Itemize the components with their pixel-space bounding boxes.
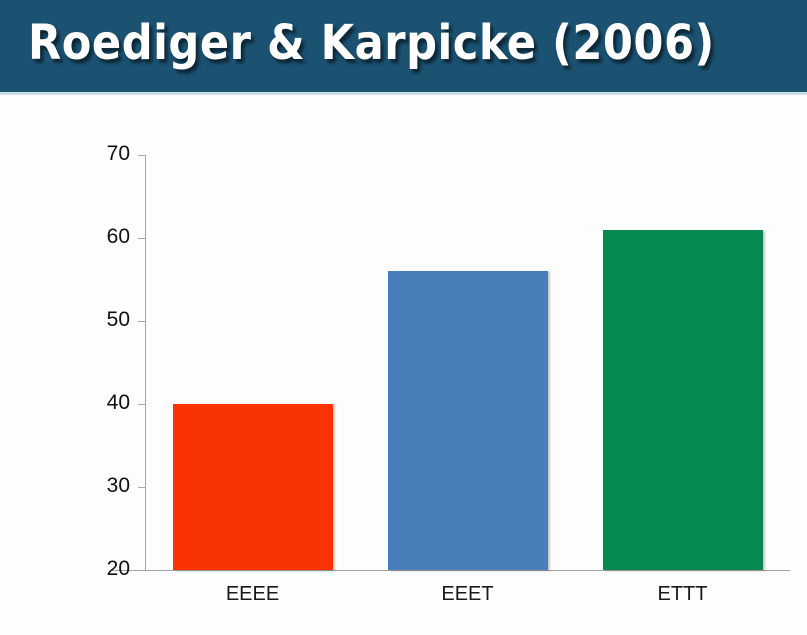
x-axis-line [112, 570, 790, 571]
y-axis-tick [138, 404, 146, 405]
y-axis-tick-label-text: 70 [10, 142, 130, 166]
y-axis-tick-label: 50 [0, 308, 130, 332]
y-axis-tick-label-text: 60 [10, 225, 130, 249]
bar-chart: 203040506070 EEEEEEETETTT [0, 95, 807, 635]
y-axis-tick-label: 20 [0, 557, 130, 581]
y-axis-tick-label: 40 [0, 391, 130, 415]
page-title: Roediger & Karpicke (2006) [28, 12, 715, 74]
bar-eeee [173, 404, 333, 570]
x-axis-label-eeee: EEEE [145, 583, 360, 606]
y-axis-line [145, 155, 146, 571]
x-axis-label-eeet: EEET [360, 583, 575, 606]
x-axis-label-ettt: ETTT [575, 583, 790, 606]
bar-eeet [388, 271, 548, 570]
y-axis-tick [138, 155, 146, 156]
y-axis-tick-label-text: 30 [10, 474, 130, 498]
y-axis-tick [138, 238, 146, 239]
y-axis-tick-label: 30 [0, 474, 130, 498]
title-banner: Roediger & Karpicke (2006) [0, 0, 807, 95]
y-axis-tick [138, 487, 146, 488]
y-axis-tick [138, 570, 146, 571]
slide-root: Roediger & Karpicke (2006) 203040506070 … [0, 0, 807, 635]
y-axis-tick [138, 321, 146, 322]
y-axis-tick-label-text: 50 [10, 308, 130, 332]
y-axis-tick-label: 70 [0, 142, 130, 166]
y-axis-tick-label-text: 40 [10, 391, 130, 415]
y-axis-tick-label-text: 20 [10, 557, 130, 581]
y-axis-tick-label: 60 [0, 225, 130, 249]
bar-ettt [603, 230, 763, 570]
